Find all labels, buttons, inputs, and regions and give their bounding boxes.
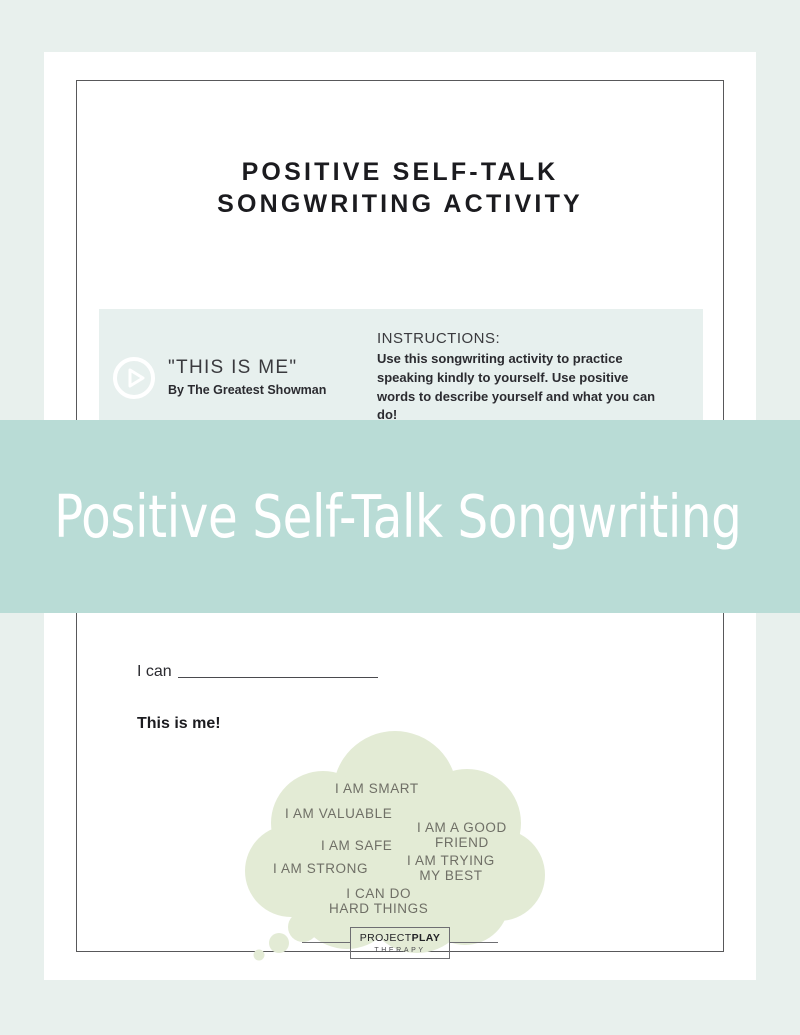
- page-title: POSITIVE SELF-TALK SONGWRITING ACTIVITY: [77, 156, 723, 220]
- overlay-title-text: Positive Self-Talk Songwriting: [0, 482, 741, 551]
- section-heading-this-is-me: This is me!: [137, 715, 221, 733]
- affirmation-trying-my-best: I AM TRYING MY BEST: [407, 853, 495, 883]
- song-title: "THIS IS ME": [168, 357, 326, 380]
- play-circle-icon[interactable]: [113, 357, 155, 399]
- instructions: INSTRUCTIONS: Use this songwriting activ…: [377, 330, 677, 425]
- logo-word-play: PLAY: [412, 932, 441, 944]
- affirmation-valuable: I AM VALUABLE: [285, 806, 392, 821]
- affirmation-safe: I AM SAFE: [321, 838, 392, 853]
- logo-wordmark: PROJECTPLAY: [360, 933, 440, 944]
- logo-subtitle: THERAPY: [360, 947, 440, 954]
- affirmation-strong: I AM STRONG: [273, 861, 368, 876]
- i-can-prompt: I can: [137, 663, 378, 681]
- song-reference: "THIS IS ME" By The Greatest Showman: [99, 357, 377, 399]
- song-artist: By The Greatest Showman: [168, 383, 326, 398]
- instructions-heading: INSTRUCTIONS:: [377, 330, 669, 347]
- title-line-2: SONGWRITING ACTIVITY: [77, 188, 723, 220]
- logo-word-project: PROJECT: [360, 932, 412, 944]
- affirmation-smart: I AM SMART: [335, 781, 419, 796]
- instructions-body: Use this songwriting activity to practic…: [377, 350, 669, 425]
- title-line-1: POSITIVE SELF-TALK: [77, 156, 723, 188]
- i-can-blank-field[interactable]: [178, 677, 378, 678]
- affirmation-good-friend: I AM A GOOD FRIEND: [417, 820, 507, 850]
- footer-logo: PROJECTPLAY THERAPY: [77, 927, 723, 959]
- i-can-label: I can: [137, 663, 172, 680]
- logo-rule-left: [302, 942, 350, 943]
- overlay-title-banner: Positive Self-Talk Songwriting: [0, 420, 800, 613]
- song-text: "THIS IS ME" By The Greatest Showman: [168, 357, 326, 399]
- logo-rule-right: [450, 942, 498, 943]
- logo-box: PROJECTPLAY THERAPY: [350, 927, 450, 959]
- affirmation-hard-things: I CAN DO HARD THINGS: [329, 886, 428, 916]
